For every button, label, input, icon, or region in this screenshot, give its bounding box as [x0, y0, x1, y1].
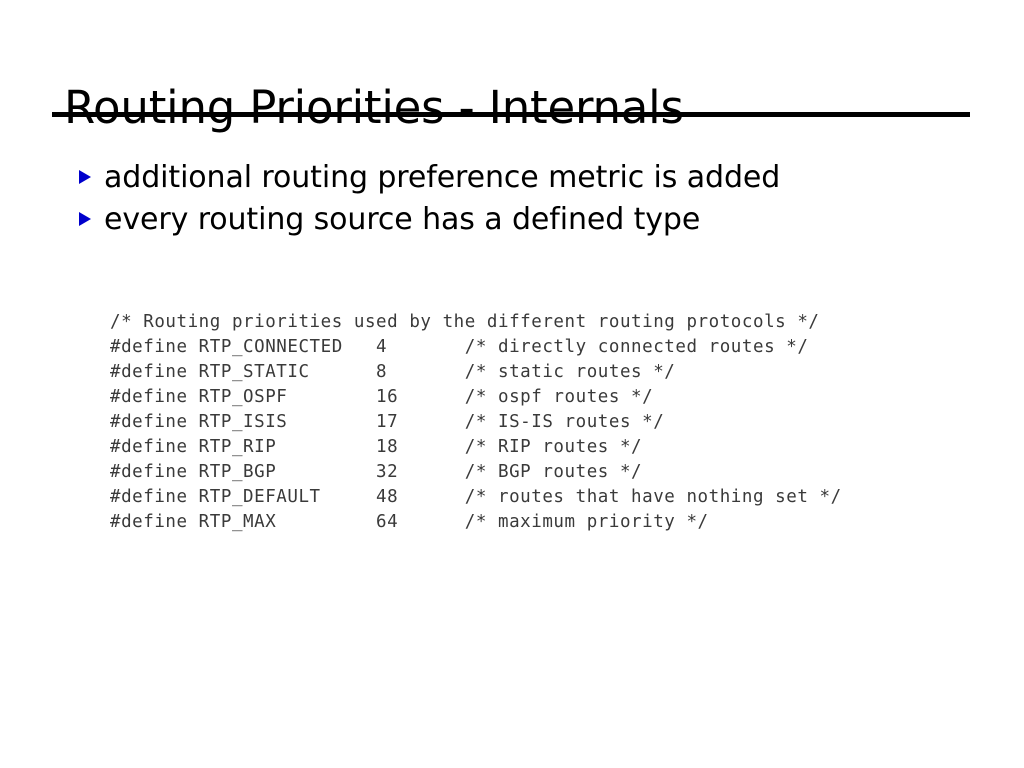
page-title: Routing Priorities - Internals: [64, 81, 684, 134]
code-line: #define RTP_ISIS 17 /* IS-IS routes */: [110, 412, 664, 432]
code-line: /* Routing priorities used by the differ…: [110, 312, 820, 332]
title-underline-rule: [52, 112, 970, 117]
triangle-right-bullet-icon: [76, 157, 104, 186]
presentation-slide: Routing Priorities - Internals additiona…: [0, 0, 1024, 768]
code-line: #define RTP_MAX 64 /* maximum priority *…: [110, 512, 709, 532]
code-block: /* Routing priorities used by the differ…: [110, 310, 842, 535]
triangle-right-bullet-icon: [76, 199, 104, 228]
list-item: every routing source has a defined type: [76, 199, 976, 241]
code-line: #define RTP_RIP 18 /* RIP routes */: [110, 437, 642, 457]
list-item-label: every routing source has a defined type: [104, 199, 976, 241]
code-line: #define RTP_CONNECTED 4 /* directly conn…: [110, 337, 808, 357]
bullet-list: additional routing preference metric is …: [76, 157, 976, 241]
code-line: #define RTP_DEFAULT 48 /* routes that ha…: [110, 487, 842, 507]
list-item-label: additional routing preference metric is …: [104, 157, 976, 199]
code-line: #define RTP_OSPF 16 /* ospf routes */: [110, 387, 653, 407]
list-item: additional routing preference metric is …: [76, 157, 976, 199]
code-line: #define RTP_STATIC 8 /* static routes */: [110, 362, 675, 382]
code-line: #define RTP_BGP 32 /* BGP routes */: [110, 462, 642, 482]
